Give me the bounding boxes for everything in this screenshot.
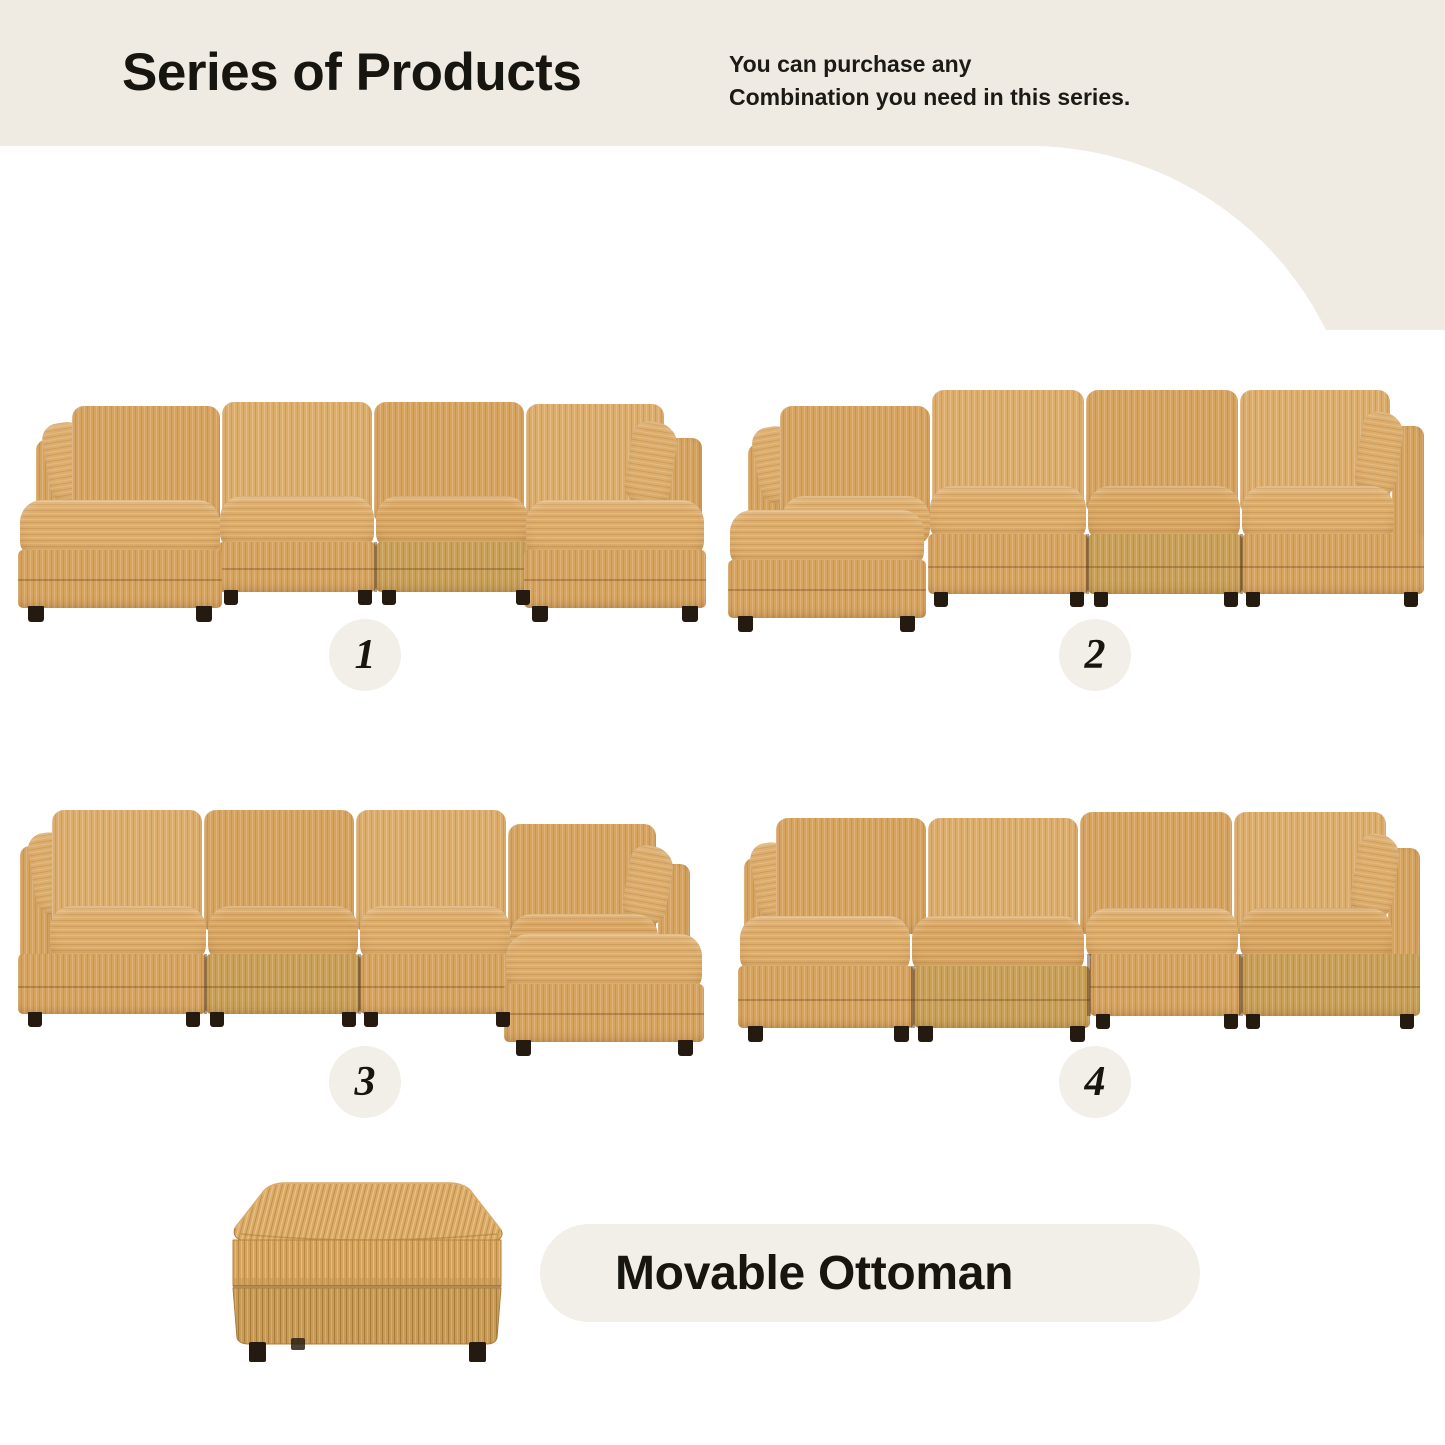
module-gap	[1087, 954, 1091, 1016]
sofa-foot	[682, 606, 698, 622]
badge-4: 4	[1059, 1046, 1131, 1118]
seat-cushion	[50, 906, 206, 960]
sofa-foot	[1400, 1014, 1414, 1029]
sofa-foot	[342, 1012, 356, 1027]
seat-cushion	[930, 486, 1086, 540]
seat-base	[928, 534, 1088, 594]
daybed-base	[738, 966, 914, 1028]
ottoman-top-cushion	[234, 1183, 502, 1242]
ottoman-foot	[469, 1342, 486, 1362]
seat-cushion	[1086, 908, 1238, 960]
seat-base	[1242, 954, 1420, 1016]
ottoman-foot	[291, 1338, 305, 1350]
seat-base	[1088, 534, 1242, 594]
sofa-foot	[1070, 592, 1084, 607]
ottoman-lower-base	[233, 1288, 501, 1344]
configuration-2[interactable]	[718, 368, 1430, 598]
ottoman-upper-base	[233, 1240, 501, 1286]
badge-label: 2	[1085, 634, 1106, 676]
module-gap	[1086, 534, 1089, 594]
ottoman-base-seam	[233, 1285, 501, 1288]
sofa-foot	[186, 1012, 200, 1027]
sofa-foot	[28, 1012, 42, 1027]
ottoman-foot	[249, 1342, 266, 1362]
sofa-foot	[918, 1026, 933, 1042]
sofa-foot	[382, 590, 396, 605]
module-gap	[1239, 954, 1243, 1016]
base-seam	[18, 579, 222, 581]
seat-base	[218, 542, 376, 592]
sofa-foot	[1070, 1026, 1085, 1042]
badge-label: 4	[1085, 1061, 1106, 1103]
sofa-foot	[364, 1012, 378, 1027]
sofa-foot	[738, 616, 753, 632]
seat-base	[360, 954, 514, 1014]
movable-ottoman-label: Movable Ottoman	[615, 1246, 1013, 1301]
header-curve-shape	[0, 146, 1360, 330]
ottoman-cushion	[506, 934, 702, 990]
base-seam	[728, 589, 926, 591]
subtitle-line-2: Combination you need in this series.	[729, 81, 1130, 114]
base-seam	[524, 579, 706, 581]
module-gap	[204, 954, 207, 1014]
badge-2: 2	[1059, 619, 1131, 691]
left-chaise-cushion	[20, 500, 220, 556]
seat-cushion	[1242, 486, 1394, 540]
sofa-foot	[532, 606, 548, 622]
badge-label: 1	[355, 634, 376, 676]
badge-1: 1	[329, 619, 401, 691]
sofa-foot	[900, 616, 915, 632]
module-gap	[374, 542, 377, 592]
badge-3: 3	[329, 1046, 401, 1118]
sofa-foot	[1094, 592, 1108, 607]
daybed-cushion	[740, 916, 910, 972]
daybed-base	[914, 966, 1090, 1028]
base-seam	[928, 566, 1424, 568]
sofa-foot	[934, 592, 948, 607]
product-series-infographic: Series of Products You can purchase any …	[0, 0, 1445, 1445]
seat-cushion	[1088, 486, 1240, 540]
sofa-foot	[358, 590, 372, 605]
base-seam	[1090, 986, 1420, 988]
seat-cushion	[360, 906, 510, 960]
movable-ottoman-label-pill: Movable Ottoman	[540, 1224, 1200, 1322]
header-text-group: Series of Products You can purchase any …	[0, 0, 1445, 146]
sofa-foot	[1224, 592, 1238, 607]
sofa-foot	[1246, 592, 1260, 607]
movable-ottoman-illustration[interactable]	[205, 1168, 545, 1368]
seat-base	[18, 954, 206, 1014]
sofa-illustration-1	[10, 378, 710, 598]
subtitle-line-1: You can purchase any	[729, 48, 1130, 81]
seat-cushion	[1240, 908, 1392, 960]
ottoman-svg	[205, 1168, 545, 1368]
ottoman-cushion	[730, 510, 924, 566]
seat-cushion	[208, 906, 358, 960]
daybed-cushion	[912, 916, 1084, 972]
sofa-foot	[516, 590, 530, 605]
sofa-foot	[1246, 1014, 1260, 1029]
seat-cushion	[220, 496, 374, 548]
page-title: Series of Products	[122, 42, 581, 103]
seat-base	[1242, 534, 1424, 594]
seat-base	[376, 542, 530, 592]
sofa-illustration-4	[718, 788, 1430, 1018]
sofa-foot	[1096, 1014, 1110, 1029]
badge-label: 3	[355, 1061, 376, 1103]
sofa-foot	[516, 1040, 531, 1056]
sofa-foot	[224, 590, 238, 605]
right-chaise-cushion	[526, 500, 704, 556]
sofa-foot	[748, 1026, 763, 1042]
sofa-foot	[1224, 1014, 1238, 1029]
sofa-foot	[1404, 592, 1418, 607]
sofa-foot	[496, 1012, 510, 1027]
page-subtitle: You can purchase any Combination you nee…	[729, 48, 1130, 113]
module-gap	[358, 954, 361, 1014]
seat-base	[206, 954, 360, 1014]
base-seam	[504, 1013, 704, 1015]
sofa-foot	[678, 1040, 693, 1056]
configuration-1[interactable]	[10, 378, 710, 598]
seat-base	[1090, 954, 1242, 1016]
module-gap	[1240, 534, 1243, 594]
sofa-foot	[28, 606, 44, 622]
sofa-foot	[894, 1026, 909, 1042]
sofa-illustration-3	[10, 788, 722, 1018]
base-seam	[18, 986, 514, 988]
sofa-foot	[210, 1012, 224, 1027]
sofa-foot	[196, 606, 212, 622]
configuration-3[interactable]	[10, 788, 722, 1018]
sofa-illustration-2	[718, 368, 1430, 598]
seat-cushion	[376, 496, 528, 548]
configuration-4[interactable]	[718, 788, 1430, 1018]
module-gap	[911, 966, 915, 1028]
